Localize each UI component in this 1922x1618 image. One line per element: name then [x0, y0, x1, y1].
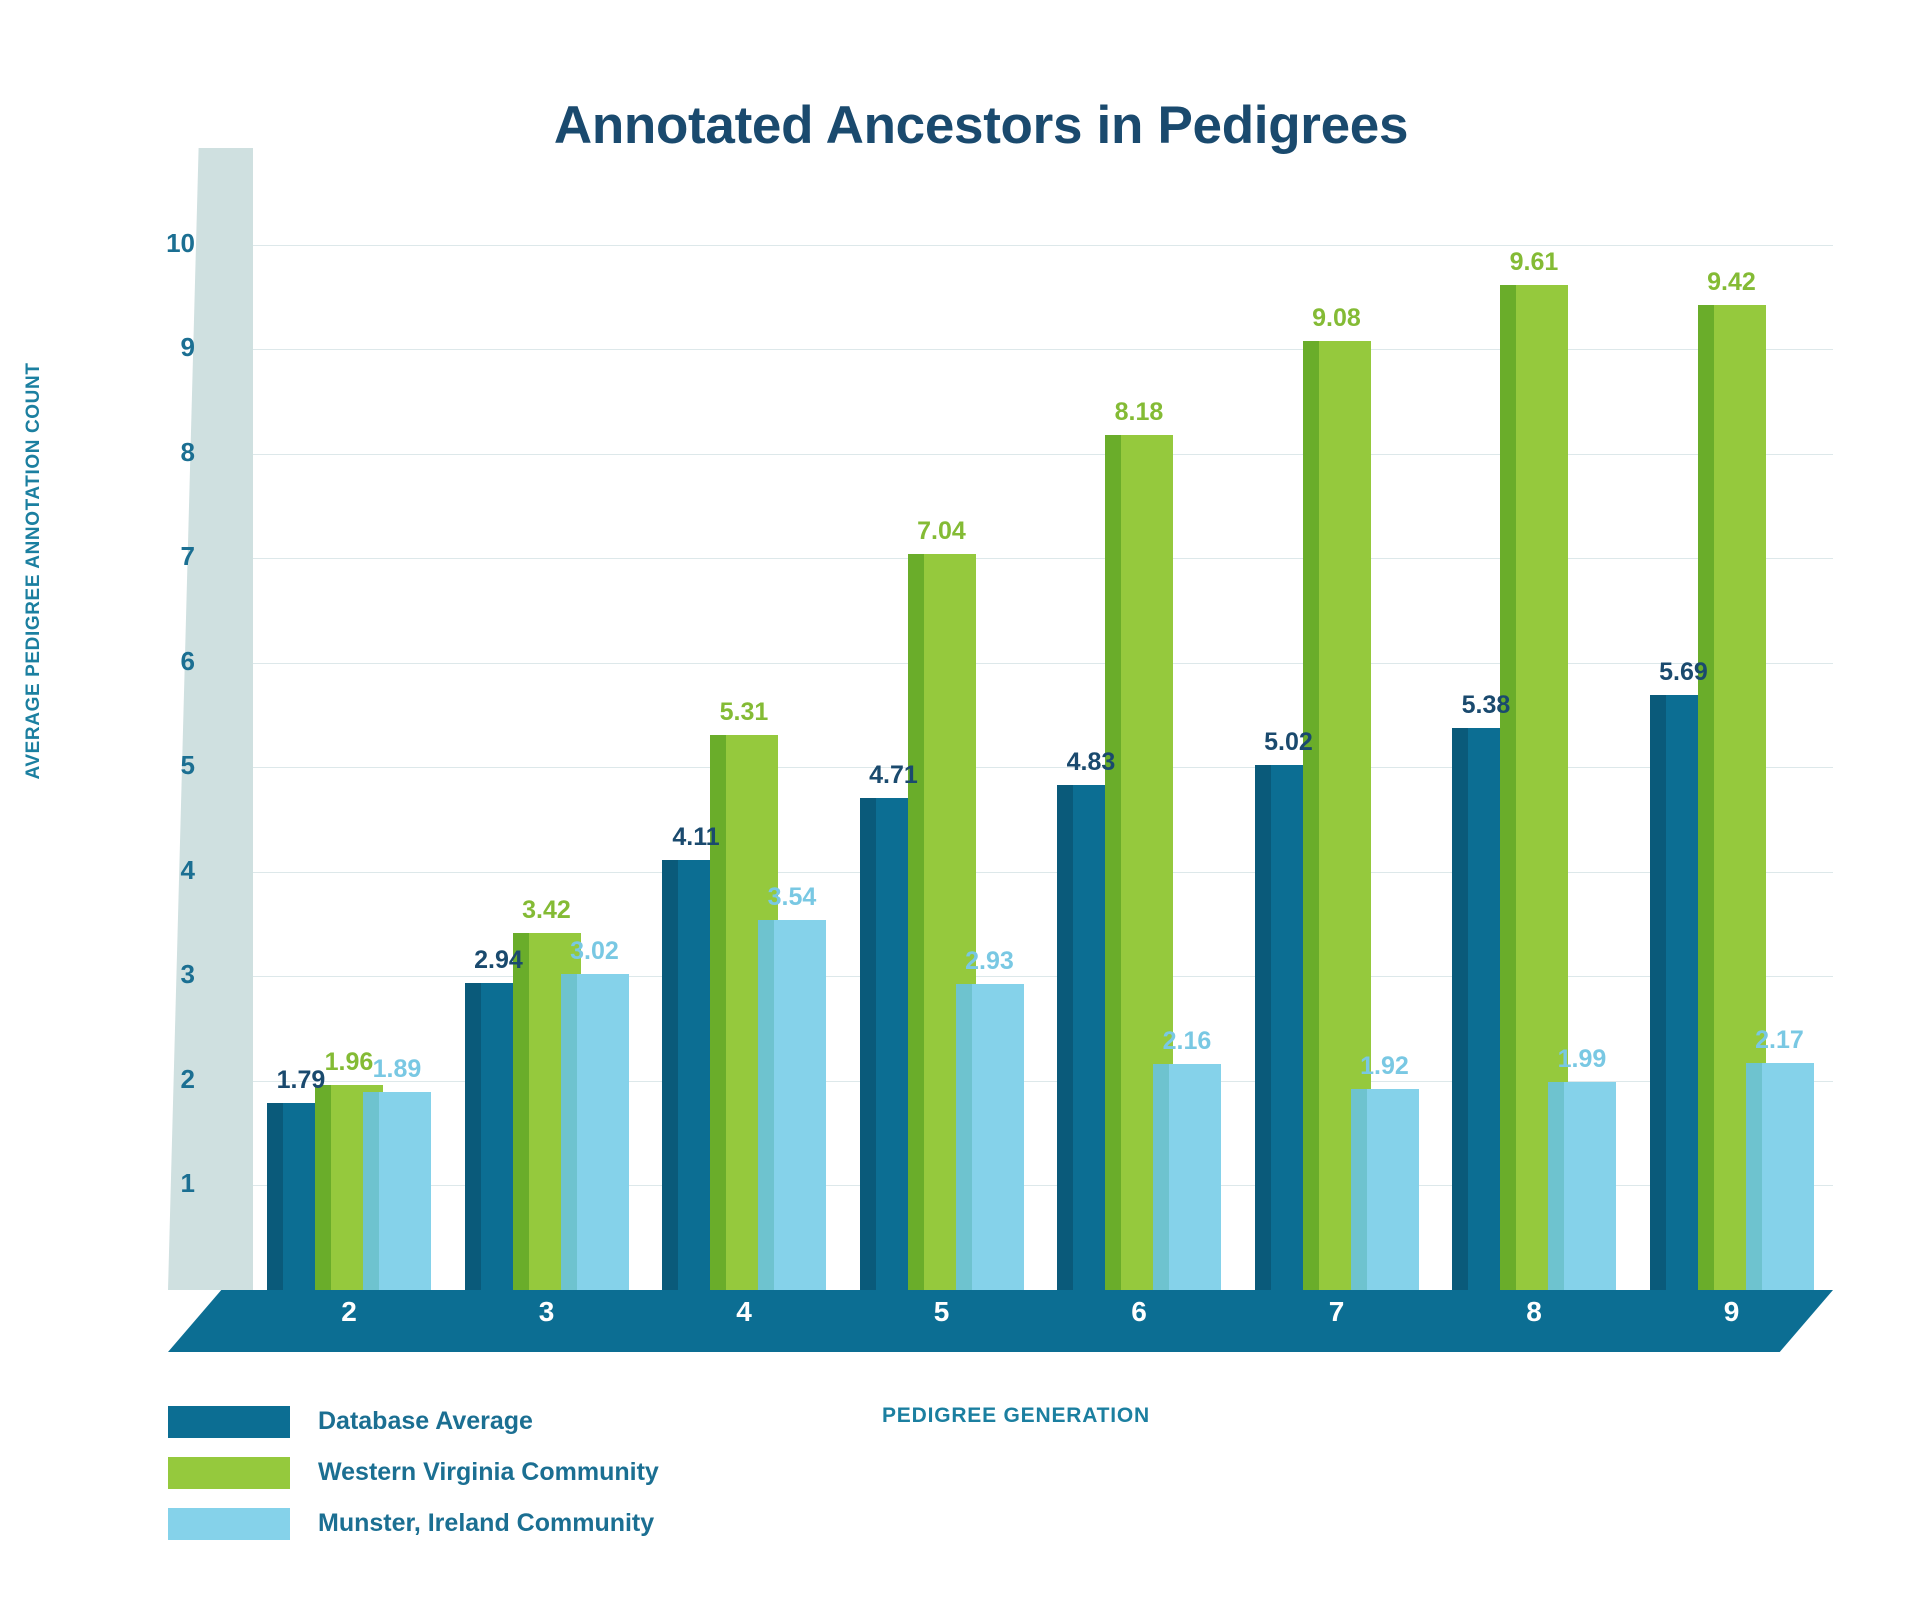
bar-group: 1.791.961.89 [253, 182, 451, 1290]
bar[interactable] [363, 1092, 431, 1290]
bar[interactable] [758, 920, 826, 1290]
x-axis-tick-label: 2 [289, 1296, 409, 1328]
y-axis-title: AVERAGE PEDIGREE ANNOTATION COUNT [23, 251, 45, 891]
bar-group: 5.699.422.17 [1636, 182, 1834, 1290]
bar-front-face [1367, 1089, 1419, 1290]
bar-value-label: 3.54 [737, 883, 847, 912]
bar-value-label: 3.42 [492, 896, 602, 925]
bar-front-face [1169, 1064, 1221, 1290]
x-axis-tick-label: 3 [487, 1296, 607, 1328]
bar-value-label: 1.92 [1330, 1052, 1440, 1081]
bar-value-label: 9.08 [1282, 304, 1392, 333]
legend-item[interactable]: Database Average [168, 1396, 659, 1447]
bar[interactable] [1351, 1089, 1419, 1290]
bar-group: 2.943.423.02 [451, 182, 649, 1290]
bar-value-label: 9.42 [1677, 268, 1787, 297]
y-axis-tick-label: 3 [135, 959, 195, 990]
legend-swatch [168, 1457, 290, 1489]
bar-value-label: 8.18 [1084, 398, 1194, 427]
bar-value-label: 3.02 [540, 937, 650, 966]
bar-value-label: 9.61 [1479, 248, 1589, 277]
bar-value-label: 2.16 [1132, 1027, 1242, 1056]
bar[interactable] [1548, 1082, 1616, 1290]
y-axis-tick-label: 1 [135, 1168, 195, 1199]
legend-label: Western Virginia Community [318, 1458, 659, 1487]
bar-front-face [774, 920, 826, 1290]
legend-swatch [168, 1508, 290, 1540]
bar-value-label: 5.02 [1234, 728, 1344, 757]
bar-value-label: 4.83 [1036, 748, 1146, 777]
legend-item[interactable]: Western Virginia Community [168, 1447, 659, 1498]
x-axis-tick-label: 9 [1672, 1296, 1792, 1328]
y-axis-tick-label: 9 [135, 332, 195, 363]
bar-group: 5.389.611.99 [1438, 182, 1636, 1290]
bar-group: 5.029.081.92 [1241, 182, 1439, 1290]
y-axis-band [168, 148, 253, 1290]
bar[interactable] [561, 974, 629, 1290]
bar-value-label: 5.38 [1431, 691, 1541, 720]
bar-value-label: 5.69 [1629, 658, 1739, 687]
bar-value-label: 4.11 [641, 823, 751, 852]
x-axis-tick-label: 4 [684, 1296, 804, 1328]
bar-front-face [972, 984, 1024, 1290]
bar-value-label: 7.04 [887, 517, 997, 546]
y-axis-tick-label: 2 [135, 1064, 195, 1095]
bar-front-face [1564, 1082, 1616, 1290]
x-axis-tick-label: 8 [1474, 1296, 1594, 1328]
plot-area: 12345678910 1.791.961.892.943.423.024.11… [253, 182, 1833, 1290]
bar-value-label: 5.31 [689, 698, 799, 727]
x-axis-tick-label: 6 [1079, 1296, 1199, 1328]
y-axis-tick-label: 10 [135, 228, 195, 259]
legend-swatch [168, 1406, 290, 1438]
bar-value-label: 2.93 [935, 947, 1045, 976]
bar[interactable] [1153, 1064, 1221, 1290]
bar-value-label: 1.99 [1527, 1045, 1637, 1074]
chart-title: Annotated Ancestors in Pedigrees [0, 95, 1922, 156]
y-axis-tick-label: 7 [135, 541, 195, 572]
bar-value-label: 2.94 [444, 946, 554, 975]
bar[interactable] [956, 984, 1024, 1290]
y-axis-tick-label: 8 [135, 437, 195, 468]
bar-group: 4.838.182.16 [1043, 182, 1241, 1290]
bar-front-face [379, 1092, 431, 1290]
legend: Database AverageWestern Virginia Communi… [168, 1396, 659, 1549]
legend-label: Munster, Ireland Community [318, 1509, 654, 1538]
bar-group: 4.717.042.93 [846, 182, 1044, 1290]
bar-front-face [577, 974, 629, 1290]
y-axis-tick-label: 5 [135, 750, 195, 781]
bar-value-label: 2.17 [1725, 1026, 1835, 1055]
bar-group: 4.115.313.54 [648, 182, 846, 1290]
y-axis-tick-label: 6 [135, 646, 195, 677]
bar[interactable] [1746, 1063, 1814, 1290]
bar-value-label: 1.89 [342, 1055, 452, 1084]
y-axis-tick-label: 4 [135, 855, 195, 886]
bar-front-face [1762, 1063, 1814, 1290]
legend-item[interactable]: Munster, Ireland Community [168, 1498, 659, 1549]
bar-value-label: 4.71 [839, 761, 949, 790]
x-axis-tick-label: 7 [1277, 1296, 1397, 1328]
x-axis-tick-label: 5 [882, 1296, 1002, 1328]
legend-label: Database Average [318, 1407, 533, 1436]
